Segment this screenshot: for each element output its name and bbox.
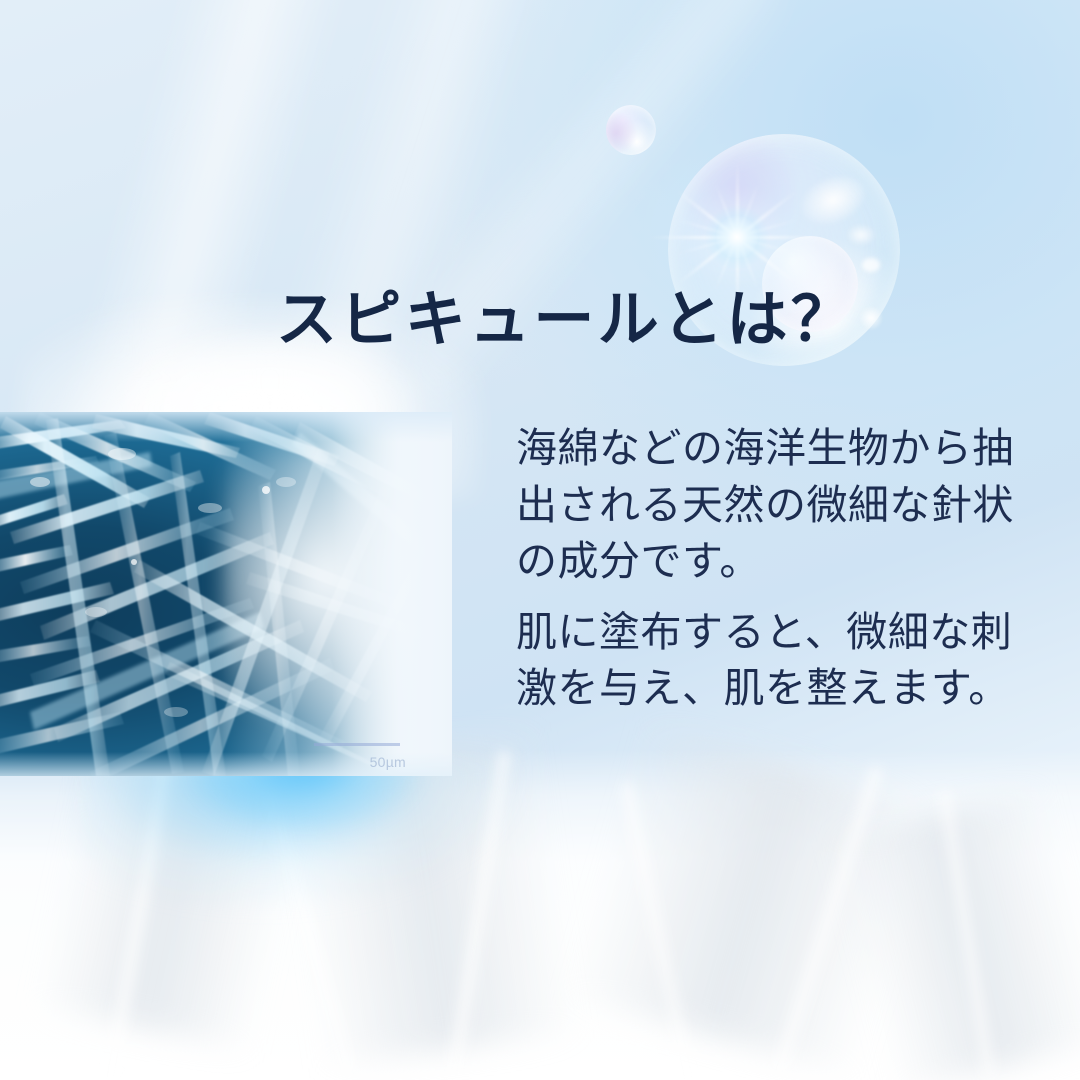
scale-bar [314,743,400,746]
bubble-highlight-secondary [846,224,876,246]
poster-canvas: スピキュールとは？ [0,0,1080,1080]
photo-top-fade [0,412,452,442]
page-title: スピキュールとは？ [276,287,855,355]
bubble-highlight-lower [858,306,884,330]
small-bubble-tint [606,105,656,155]
photo-right-fade-inner [332,412,452,776]
description-text-block: 海綿などの海洋生物から抽出される天然の微細な針状の成分です。 肌に塗布すると、微… [516,420,1016,717]
description-paragraph-2: 肌に塗布すると、微細な刺激を与え、肌を整えます。 [516,604,1016,717]
description-paragraph-1: 海綿などの海洋生物から抽出される天然の微細な針状の成分です。 [516,420,1016,590]
scale-bar-label: 50µm [370,754,406,770]
spicule-microscopy-image: 50µm [0,412,452,776]
bubble-highlight-small [862,258,880,272]
